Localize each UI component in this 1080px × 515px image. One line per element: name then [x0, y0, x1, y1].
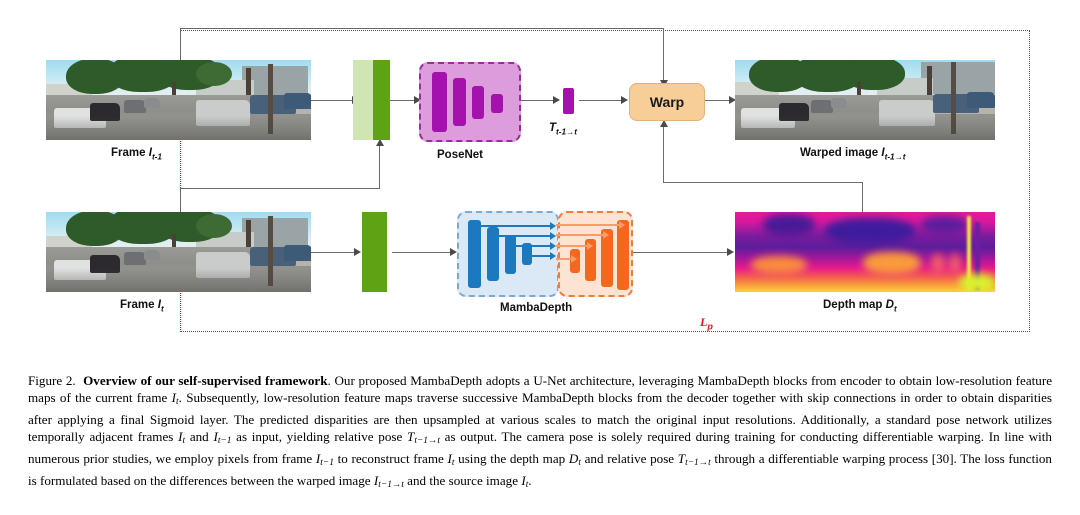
- depth-input-block: [362, 212, 387, 292]
- decoder-skip-3: [556, 234, 604, 236]
- depth-map-image: [735, 212, 995, 292]
- decoder-skip-4: [556, 224, 620, 226]
- arrow-into-warp-bottom: [660, 120, 668, 127]
- frame-cur-image: [46, 212, 311, 292]
- skip-connection-1: [475, 225, 551, 227]
- warped-image: [735, 60, 995, 140]
- connector-posenet-to-pose-token: [518, 100, 555, 101]
- skip-connection-2: [493, 235, 551, 237]
- decoder-skip-1: [556, 258, 572, 260]
- caption-body-3: and: [185, 429, 213, 444]
- caption-sub-T-a: t−1→t: [414, 436, 440, 446]
- mambadepth-encoder-block: [457, 211, 559, 297]
- pose-encoder-block-light: [353, 60, 373, 140]
- connector-encoder-to-posenet: [390, 100, 416, 101]
- connector-depthmap-to-warp-v1: [862, 182, 863, 213]
- mambadepth-encoder-bar-3: [505, 235, 516, 274]
- caption-lead: Figure 2.: [28, 373, 76, 388]
- arrow-encoder-bottom-in: [376, 139, 384, 146]
- caption-body-7: using the depth map: [454, 451, 568, 466]
- figure-caption: Figure 2. Overview of our self-supervise…: [28, 372, 1052, 495]
- connector-depthmap-to-warp-h: [663, 182, 863, 183]
- connector-depthmap-to-warp-v2: [663, 126, 664, 182]
- frame-prev-label: Frame It-1: [111, 147, 162, 161]
- caption-sub-tm1-b: t−1: [320, 458, 334, 468]
- caption-body-4: as input, yielding relative pose: [231, 429, 407, 444]
- depth-map-label: Depth map Dt: [823, 299, 897, 313]
- frame-prev-image: [46, 60, 311, 140]
- connector-frame-prev-to-warp-v2: [663, 28, 664, 80]
- caption-body-10: and the source image: [404, 473, 521, 488]
- warp-block: Warp: [629, 83, 705, 121]
- connector-pose-token-to-warp: [579, 100, 623, 101]
- arrow-into-mamba-green: [354, 248, 361, 256]
- caption-sub-tm1-a: t−1: [218, 436, 232, 446]
- mambadepth-decoder-block: [558, 211, 633, 297]
- arrow-into-mambadepth: [450, 248, 457, 256]
- connector-frame-cur-to-encoder-h: [180, 188, 380, 189]
- mambadepth-decoder-bar-4: [617, 220, 629, 290]
- arrow-into-pose-token: [553, 96, 560, 104]
- mambadepth-label: MambaDepth: [500, 302, 572, 314]
- posenet-bar-2: [453, 78, 466, 126]
- posenet-bar-3: [472, 86, 484, 119]
- connector-frame-prev-to-encoder: [311, 100, 353, 101]
- decoder-skip-2: [556, 245, 588, 247]
- arrow-into-warp-left: [621, 96, 628, 104]
- skip-connection-4: [526, 255, 551, 257]
- connector-frame-prev-to-warp-v1: [180, 28, 181, 61]
- posenet-bar-1: [432, 72, 447, 132]
- caption-body-6: to reconstruct frame: [334, 451, 448, 466]
- posenet-bar-4: [491, 94, 503, 113]
- frame-cur-label: Frame It: [120, 299, 164, 313]
- caption-body-11: .: [528, 473, 531, 488]
- pose-encoder-block-dark: [373, 60, 390, 140]
- pose-token-block: [563, 88, 574, 114]
- posenet-block: [419, 62, 521, 142]
- arrow-into-depthmap: [727, 248, 734, 256]
- figure-diagram: Lp: [0, 0, 1080, 360]
- caption-sym-t-b: T: [678, 451, 685, 466]
- caption-sub-iw: t−1→t: [378, 480, 404, 490]
- warped-image-label: Warped image It-1→t: [800, 147, 906, 161]
- connector-green-to-mambadepth: [392, 252, 452, 253]
- loss-label: Lp: [700, 315, 713, 331]
- connector-frame-cur-to-encoder-v1: [180, 188, 181, 213]
- warp-label: Warp: [650, 94, 684, 110]
- connector-mambadepth-to-depthmap: [629, 252, 729, 253]
- caption-sub-T-b: t−1→t: [685, 458, 711, 468]
- caption-sym-d: D: [569, 451, 578, 466]
- posenet-label: PoseNet: [437, 149, 483, 161]
- mambadepth-encoder-bar-1: [468, 220, 481, 288]
- caption-title: Overview of our self-supervised framewor…: [83, 373, 327, 388]
- connector-frame-cur-to-encoder-v2: [379, 145, 380, 189]
- connector-frame-cur-to-mamba-encoder-stem: [311, 252, 355, 253]
- connector-frame-prev-to-warp-h: [180, 28, 664, 29]
- skip-connection-3: [510, 245, 551, 247]
- caption-body-8: and relative pose: [581, 451, 678, 466]
- pose-token-label: Tt-1→t: [549, 122, 577, 136]
